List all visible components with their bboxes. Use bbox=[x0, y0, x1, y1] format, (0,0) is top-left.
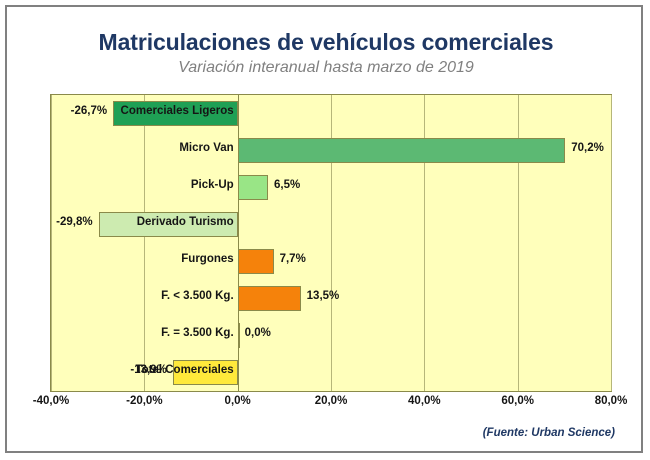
gridline bbox=[611, 95, 612, 391]
bar-row: Total Comerciales-13,9% bbox=[51, 354, 611, 391]
value-label: 13,5% bbox=[307, 290, 340, 302]
x-tick-label: 60,0% bbox=[501, 395, 534, 407]
category-label: F. = 3.500 Kg. bbox=[51, 327, 234, 339]
value-label: -13,9% bbox=[51, 364, 167, 376]
bar[interactable] bbox=[238, 249, 274, 274]
x-tick-label: 0,0% bbox=[225, 395, 251, 407]
x-tick-label: -20,0% bbox=[126, 395, 162, 407]
bar-row: F. = 3.500 Kg.0,0% bbox=[51, 317, 611, 354]
plot-area: Comerciales Ligeros-26,7%Micro Van70,2%P… bbox=[50, 94, 612, 392]
bar-row: Furgones7,7% bbox=[51, 243, 611, 280]
x-tick-label: 20,0% bbox=[315, 395, 348, 407]
bar[interactable] bbox=[238, 286, 301, 311]
value-label: -29,8% bbox=[51, 216, 93, 228]
x-tick-label: 40,0% bbox=[408, 395, 441, 407]
category-label: F. < 3.500 Kg. bbox=[51, 290, 234, 302]
source-note: (Fuente: Urban Science) bbox=[483, 427, 615, 439]
value-label: 7,7% bbox=[280, 253, 306, 265]
chart-subtitle: Variación interanual hasta marzo de 2019 bbox=[7, 59, 645, 77]
category-label: Pick-Up bbox=[51, 179, 234, 191]
bar-row: Derivado Turismo-29,8% bbox=[51, 206, 611, 243]
x-tick-label: -40,0% bbox=[33, 395, 69, 407]
bar[interactable] bbox=[238, 138, 566, 163]
category-label: Furgones bbox=[51, 253, 234, 265]
bar-row: Pick-Up6,5% bbox=[51, 169, 611, 206]
x-axis: -40,0%-20,0%0,0%20,0%40,0%60,0%80,0% bbox=[50, 395, 612, 415]
page-title: Matriculaciones de vehículos comerciales bbox=[7, 29, 645, 56]
chart-figure: Matriculaciones de vehículos comerciales… bbox=[5, 5, 643, 453]
bar[interactable] bbox=[238, 175, 268, 200]
category-label: Micro Van bbox=[51, 142, 234, 154]
x-tick-label: 80,0% bbox=[595, 395, 628, 407]
value-label: 70,2% bbox=[571, 142, 604, 154]
bar[interactable] bbox=[238, 323, 240, 348]
bar-row: F. < 3.500 Kg.13,5% bbox=[51, 280, 611, 317]
value-label: 0,0% bbox=[245, 327, 271, 339]
bar-row: Micro Van70,2% bbox=[51, 132, 611, 169]
value-label: 6,5% bbox=[274, 179, 300, 191]
value-label: -26,7% bbox=[51, 105, 107, 117]
bar-row: Comerciales Ligeros-26,7% bbox=[51, 95, 611, 132]
